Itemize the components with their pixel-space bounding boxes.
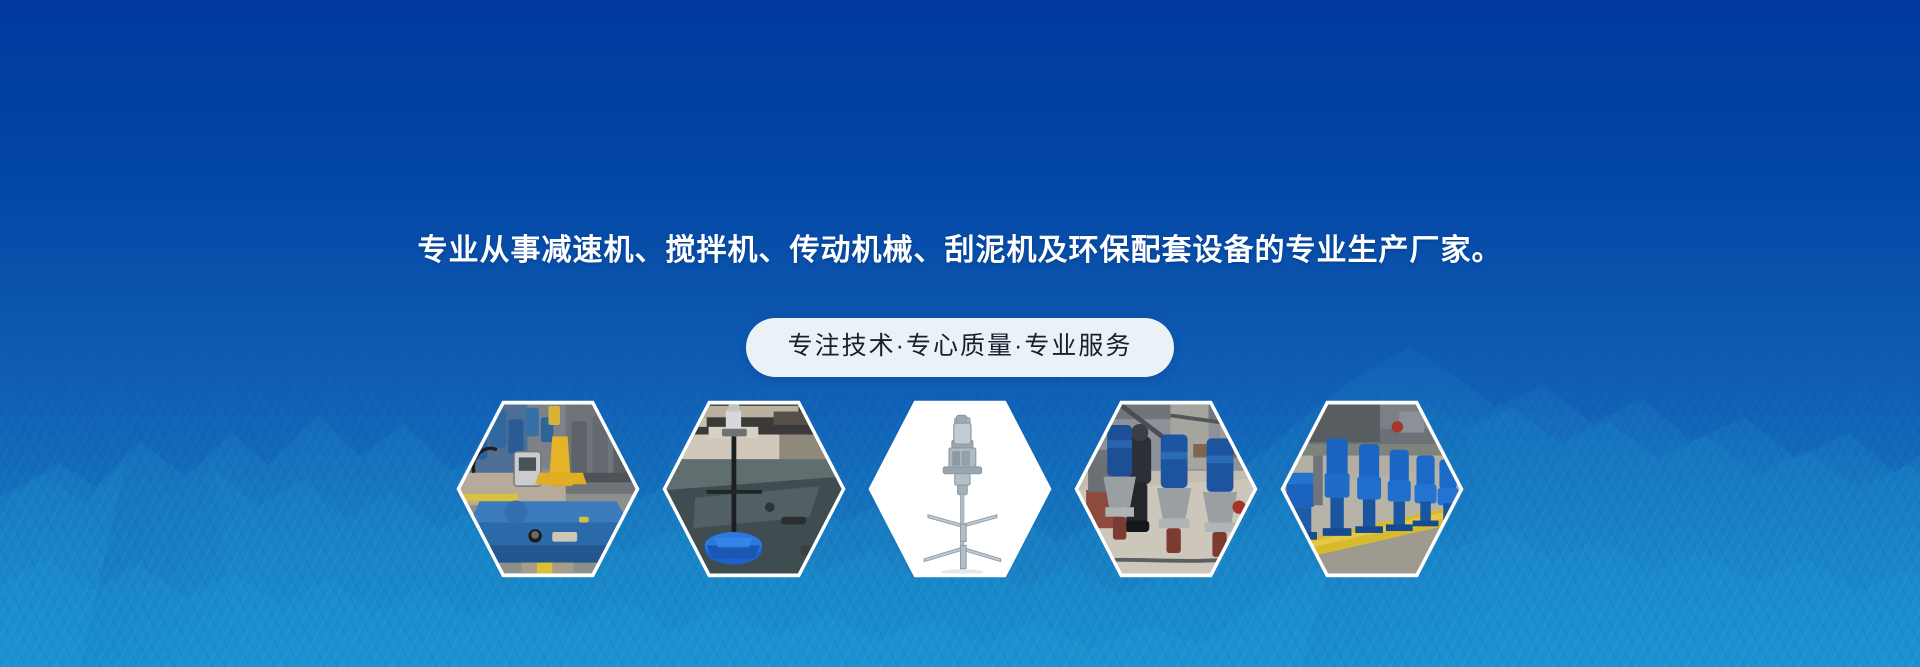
reducer-units-warehouse-photo <box>1285 402 1460 576</box>
hexagon-photo-5[interactable] <box>1281 398 1464 580</box>
hexagon-photo-4[interactable] <box>1075 398 1258 580</box>
vertical-mixers-assembly-photo <box>1079 402 1254 576</box>
hexagon-photo-5-clip <box>1285 402 1460 576</box>
hexagon-photo-3[interactable] <box>869 398 1052 580</box>
hexagon-photo-1-clip <box>461 402 636 576</box>
hero-banner: 专业从事减速机、搅拌机、传动机械、刮泥机及环保配套设备的专业生产厂家。 专注技术… <box>0 0 1920 667</box>
hexagon-photo-strip <box>457 398 1464 580</box>
gearbox-reducer-factory-photo <box>461 402 636 576</box>
slogan-pill-wrapper: 专注技术·专心质量·专业服务 <box>0 318 1920 377</box>
slogan-badge: 专注技术·专心质量·专业服务 <box>746 318 1175 377</box>
hexagon-photo-2[interactable] <box>663 398 846 580</box>
tank-mounted-agitator-photo <box>667 402 842 576</box>
hexagon-photo-3-clip <box>873 402 1048 576</box>
vertical-mixer-product-photo <box>873 402 1048 576</box>
hexagon-photo-4-clip <box>1079 402 1254 576</box>
page-title: 专业从事减速机、搅拌机、传动机械、刮泥机及环保配套设备的专业生产厂家。 <box>0 233 1920 269</box>
hexagon-photo-2-clip <box>667 402 842 576</box>
hexagon-photo-1[interactable] <box>457 398 640 580</box>
